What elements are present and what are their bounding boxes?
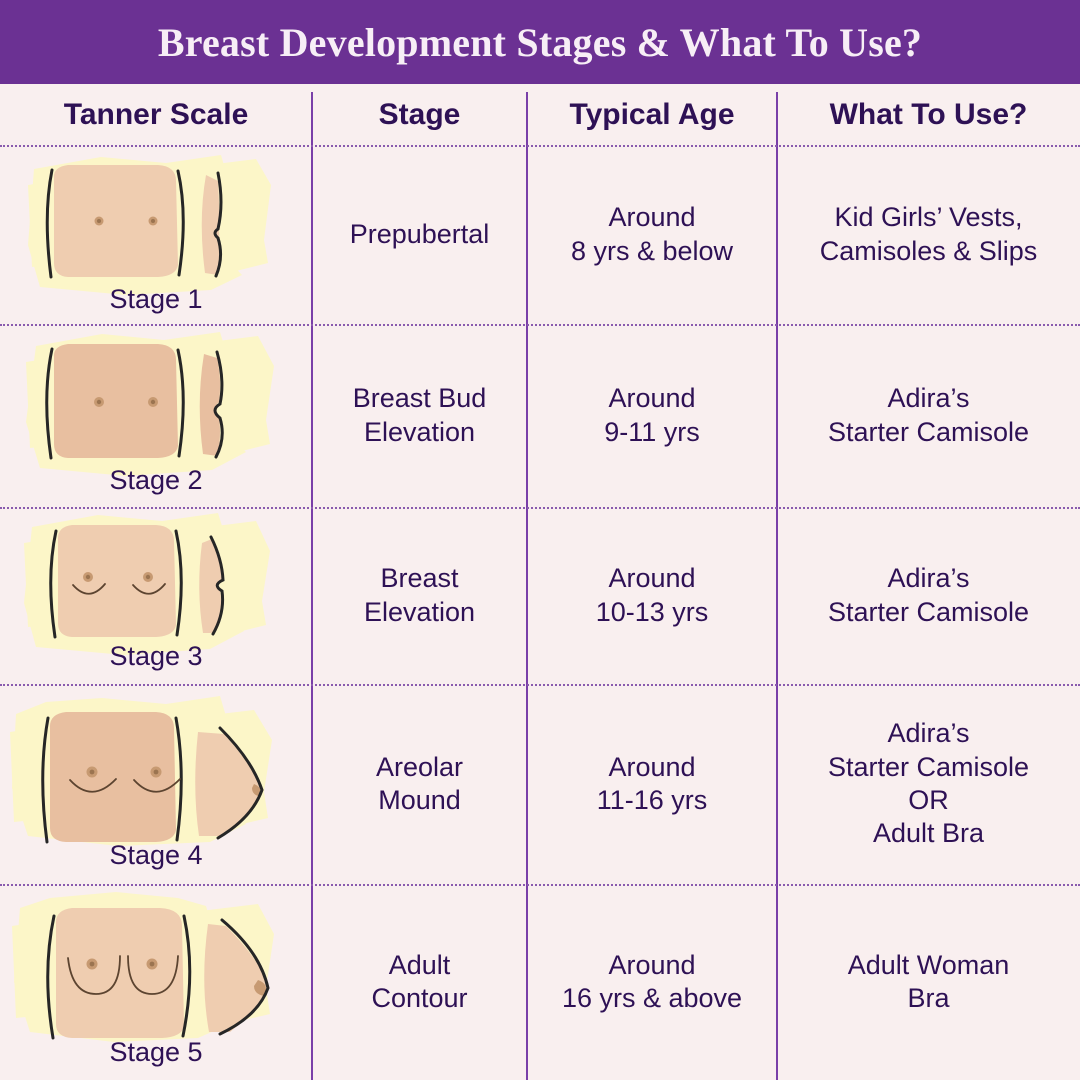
cell-tanner-scale: Stage 1 <box>0 145 312 324</box>
stage-3-breast-elevation-figure: Stage 3 <box>6 507 306 684</box>
cell-what-to-use: Adira’s Starter Camisole <box>777 324 1080 507</box>
stages-table: Tanner Scale Stage Typical Age What To U… <box>0 84 1080 1080</box>
stage-caption: Stage 3 <box>6 640 306 673</box>
table-row: Stage 3 Breast Elevation Around 10-13 yr… <box>0 507 1080 684</box>
cell-tanner-scale: Stage 3 <box>0 507 312 684</box>
cell-stage: Prepubertal <box>312 145 527 324</box>
cell-stage: Areolar Mound <box>312 684 527 884</box>
cell-typical-age: Around 16 yrs & above <box>527 884 777 1080</box>
column-header-stage: Stage <box>312 84 527 145</box>
cell-typical-age: Around 11-16 yrs <box>527 684 777 884</box>
table-row: Stage 1 Prepubertal Around 8 yrs & below… <box>0 145 1080 324</box>
page-title: Breast Development Stages & What To Use? <box>158 19 922 66</box>
stage-2-breast-bud-figure: Stage 2 <box>6 324 306 507</box>
cell-tanner-scale: Stage 5 <box>0 884 312 1080</box>
infographic-page: Breast Development Stages & What To Use?… <box>0 0 1080 1080</box>
cell-stage: Adult Contour <box>312 884 527 1080</box>
cell-typical-age: Around 8 yrs & below <box>527 145 777 324</box>
column-header-tanner-scale: Tanner Scale <box>0 84 312 145</box>
stage-caption: Stage 1 <box>6 283 306 316</box>
cell-what-to-use: Kid Girls’ Vests, Camisoles & Slips <box>777 145 1080 324</box>
table-row: Stage 4 Areolar Mound Around 11-16 yrs A… <box>0 684 1080 884</box>
cell-what-to-use: Adira’s Starter Camisole OR Adult Bra <box>777 684 1080 884</box>
stage-caption: Stage 4 <box>6 839 306 872</box>
stage-4-areolar-mound-figure: Stage 4 <box>6 684 306 884</box>
cell-what-to-use: Adira’s Starter Camisole <box>777 507 1080 684</box>
cell-stage: Breast Bud Elevation <box>312 324 527 507</box>
cell-tanner-scale: Stage 2 <box>0 324 312 507</box>
stage-5-adult-contour-figure: Stage 5 <box>6 884 306 1080</box>
table-row: Stage 5 Adult Contour Around 16 yrs & ab… <box>0 884 1080 1080</box>
cell-tanner-scale: Stage 4 <box>0 684 312 884</box>
table-row: Stage 2 Breast Bud Elevation Around 9-11… <box>0 324 1080 507</box>
stage-caption: Stage 2 <box>6 464 306 497</box>
cell-what-to-use: Adult Woman Bra <box>777 884 1080 1080</box>
cell-typical-age: Around 10-13 yrs <box>527 507 777 684</box>
table-header-row: Tanner Scale Stage Typical Age What To U… <box>0 84 1080 145</box>
title-bar: Breast Development Stages & What To Use? <box>0 0 1080 84</box>
column-header-typical-age: Typical Age <box>527 84 777 145</box>
cell-typical-age: Around 9-11 yrs <box>527 324 777 507</box>
cell-stage: Breast Elevation <box>312 507 527 684</box>
stage-1-prepubertal-figure: Stage 1 <box>6 145 306 324</box>
column-header-what-to-use: What To Use? <box>777 84 1080 145</box>
stage-caption: Stage 5 <box>6 1036 306 1069</box>
